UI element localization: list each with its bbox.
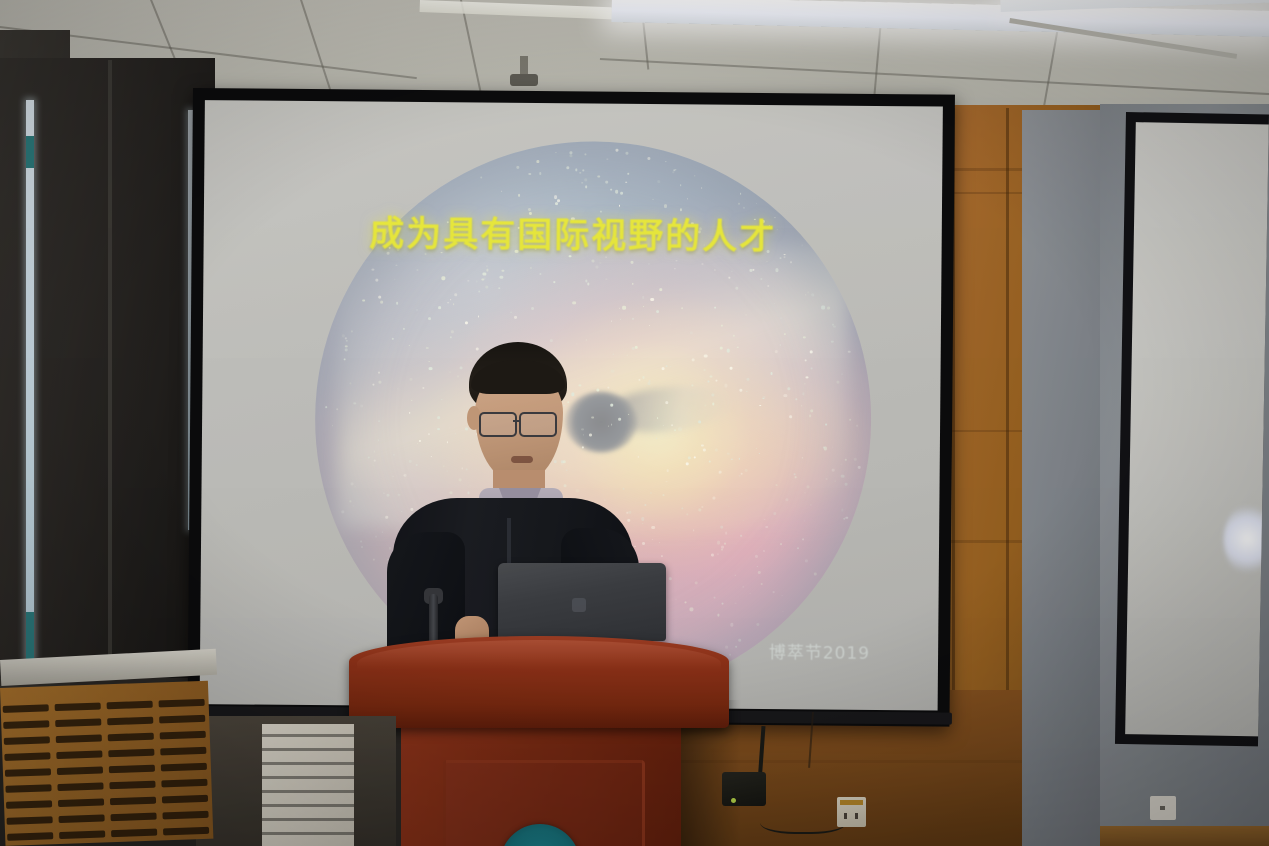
radiator-slat — [163, 827, 209, 836]
radiator-slat — [59, 814, 105, 823]
radiator-slat — [107, 701, 153, 710]
radiator-slat — [109, 765, 155, 774]
outlet-label-band — [840, 800, 863, 805]
vent-louver — [262, 832, 354, 835]
radiator-slat — [161, 763, 207, 772]
outlet-right-screw — [1160, 806, 1165, 810]
radiator-slat — [7, 816, 53, 825]
eyeglasses-left-lens — [479, 412, 517, 437]
laptop-logo — [572, 598, 586, 612]
window-light-slit — [26, 100, 34, 660]
vent-louver — [262, 762, 354, 765]
radiator-slat — [4, 736, 50, 745]
radiator-slat — [109, 781, 155, 790]
vent-louver — [262, 790, 354, 793]
outlet-socket-hole — [855, 813, 858, 819]
lecture-hall-photo: 成为具有国际视野的人才 博萃节2019 — [0, 0, 1269, 846]
secondary-screen-surface — [1125, 122, 1269, 736]
radiator-slat — [111, 829, 157, 838]
window-slit-teal-segment — [26, 612, 34, 660]
vent-louver — [262, 748, 354, 751]
eyeglasses-right-lens — [519, 412, 557, 437]
curtain-seam — [108, 60, 112, 660]
slide-title: 成为具有国际视野的人才 — [204, 204, 942, 261]
radiator-slat — [110, 797, 156, 806]
wireless-receiver[interactable] — [722, 772, 766, 806]
radiator-slat — [162, 811, 208, 820]
radiator-slat — [162, 795, 208, 804]
eyeglasses-bridge — [513, 420, 521, 422]
radiator-slat — [159, 715, 205, 724]
podium-top-highlight — [357, 640, 721, 670]
receiver-cable — [760, 806, 846, 834]
radiator-slat — [55, 702, 101, 711]
radiator-slat — [6, 800, 52, 809]
radiator-slat — [160, 747, 206, 756]
radiator-slat — [57, 782, 103, 791]
outlet-socket-hole — [844, 813, 847, 819]
radiator-slat — [161, 779, 207, 788]
radiator-slat — [59, 830, 105, 839]
receiver-led-indicator — [731, 798, 736, 803]
vent-louver — [262, 804, 354, 807]
radiator-slat — [55, 718, 101, 727]
radiator-cover — [0, 681, 213, 846]
radiator-slat — [58, 798, 104, 807]
radiator-slat — [159, 699, 205, 708]
radiator-slat — [3, 720, 49, 729]
radiator-slat — [57, 766, 103, 775]
radiator-slat — [5, 784, 51, 793]
vent-louver — [262, 776, 354, 779]
presenter-mouth — [511, 456, 533, 463]
slide-footer: 博萃节2019 — [769, 638, 870, 664]
projector — [510, 74, 538, 86]
radiator-slat — [4, 752, 50, 761]
window-slit-teal-segment — [26, 136, 34, 168]
radiator-slat — [108, 733, 154, 742]
radiator-slat — [56, 734, 102, 743]
wall-vent — [262, 724, 354, 846]
baseboard — [1100, 826, 1269, 846]
radiator-slat — [56, 750, 102, 759]
radiator-slat — [7, 832, 53, 841]
radiator-slat — [108, 749, 154, 758]
wooden-podium — [349, 636, 729, 728]
vent-louver — [262, 734, 354, 737]
radiator-slat — [107, 717, 153, 726]
vent-louver — [262, 818, 354, 821]
radiator-slat — [3, 704, 49, 713]
secondary-projection-screen[interactable] — [1115, 112, 1269, 746]
radiator-slat — [110, 813, 156, 822]
radiator-slat — [160, 731, 206, 740]
radiator-slat — [5, 768, 51, 777]
